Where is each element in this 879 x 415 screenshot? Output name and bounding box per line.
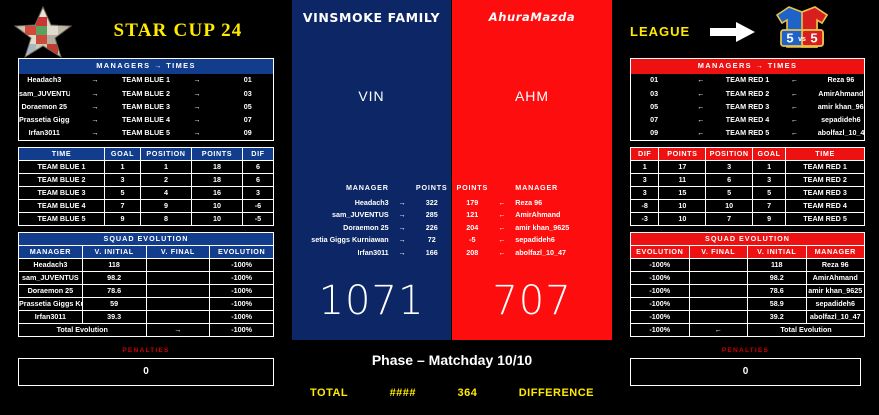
arrow-icon: ← bbox=[493, 247, 512, 260]
table-row: 03 ← TEAM RED 2 ← AmirAhmand bbox=[631, 87, 865, 100]
cell-v-final bbox=[146, 310, 210, 323]
team-name: TEAM RED 5 bbox=[724, 127, 771, 141]
right-penalties-value: 0 bbox=[743, 366, 749, 377]
logo-right-number: 5 bbox=[810, 31, 817, 46]
points-value: -5 bbox=[452, 234, 493, 247]
cell-time: TEAM BLUE 4 bbox=[19, 199, 105, 212]
table-row: 3 15 5 5 TEAM RED 3 bbox=[631, 186, 865, 199]
cell-goal: 7 bbox=[105, 199, 141, 212]
away-team-name: AhuraMazda bbox=[452, 10, 612, 24]
cell-time: TEAM RED 2 bbox=[786, 173, 865, 186]
left-squad-table-wrap: SQUAD EVOLUTION MANAGER V. INITIAL V. FI… bbox=[18, 232, 274, 337]
cell-evolution: -100% bbox=[631, 310, 690, 323]
cell-evolution: -100% bbox=[210, 271, 274, 284]
arrow-icon: ← bbox=[771, 127, 818, 141]
home-manager-points: MANAGER POINTS Headach3 → 322 sam_JUVENT… bbox=[292, 182, 452, 260]
list-item: 121 ← AmirAhmand bbox=[452, 209, 612, 222]
difference-label: DIFFERENCE bbox=[519, 387, 594, 399]
cell-evolution: -100% bbox=[210, 297, 274, 310]
away-total-score: 707 bbox=[452, 262, 612, 340]
manager-name: setia Giggs Kurniawan bbox=[292, 234, 393, 247]
cell-goal: 9 bbox=[105, 212, 141, 225]
table-row: Prassetia Giggs Kurniawan → TEAM BLUE 4 … bbox=[19, 113, 274, 126]
total-evolution-value: -100% bbox=[210, 323, 274, 336]
table-row: -100% 98.2 AmirAhmand bbox=[631, 271, 865, 284]
cell-v-initial: 59 bbox=[82, 297, 146, 310]
right-squad-bar-label: SQUAD EVOLUTION bbox=[631, 232, 865, 245]
away-team-abbr: AHM bbox=[452, 88, 612, 104]
manager-name: Reza 96 bbox=[818, 74, 865, 87]
cell-position: 3 bbox=[706, 160, 753, 173]
left-stats-table: TIME GOAL POSITION POINTS DIF TEAM BLUE … bbox=[18, 147, 274, 226]
table-row: -8 10 10 7 TEAM RED 4 bbox=[631, 199, 865, 212]
left-cup-title: STAR CUP 24 bbox=[78, 20, 278, 42]
col-header-position: POSITION bbox=[706, 147, 753, 160]
col-header-v-final: V. FINAL bbox=[689, 245, 748, 258]
right-team-panel: LEAGUE 5 vs 5 MANAGERS → TIMES bbox=[612, 0, 879, 415]
arrow-icon: ← bbox=[493, 234, 512, 247]
arrow-icon: → bbox=[172, 87, 223, 100]
points-value: 322 bbox=[411, 196, 452, 209]
col-header-dif: DIF bbox=[242, 147, 273, 160]
arrow-icon: ← bbox=[493, 209, 512, 222]
cell-v-final bbox=[689, 258, 748, 271]
team-number: 07 bbox=[631, 113, 678, 126]
cell-v-initial: 58.9 bbox=[748, 297, 807, 310]
cell-evolution: -100% bbox=[631, 258, 690, 271]
cell-time: TEAM RED 4 bbox=[786, 199, 865, 212]
team-name: TEAM RED 1 bbox=[724, 74, 771, 87]
totals-row: TOTAL #### 364 DIFFERENCE bbox=[292, 387, 612, 399]
team-number: 01 bbox=[223, 74, 274, 87]
points-value: 121 bbox=[452, 209, 493, 222]
team-number: 05 bbox=[223, 100, 274, 113]
cell-time: TEAM BLUE 1 bbox=[19, 160, 105, 173]
col-header-dif: DIF bbox=[631, 147, 659, 160]
cell-time: TEAM BLUE 3 bbox=[19, 186, 105, 199]
arrow-icon: ← bbox=[677, 113, 724, 126]
cell-v-initial: 78.6 bbox=[82, 284, 146, 297]
table-row: 1 17 3 1 TEAM RED 1 bbox=[631, 160, 865, 173]
center-manager-points-grid: MANAGER POINTS Headach3 → 322 sam_JUVENT… bbox=[292, 182, 612, 260]
cell-evolution: -100% bbox=[210, 284, 274, 297]
cell-position: 5 bbox=[706, 186, 753, 199]
col-header-manager: MANAGER bbox=[292, 182, 393, 196]
cell-v-initial: 78.6 bbox=[748, 284, 807, 297]
home-team-name: VINSMOKE FAMILY bbox=[292, 10, 451, 25]
arrow-icon: → bbox=[393, 247, 412, 260]
arrow-icon: → bbox=[70, 127, 121, 141]
arrow-icon: ← bbox=[677, 127, 724, 141]
cell-position: 1 bbox=[140, 160, 191, 173]
cell-dif: 3 bbox=[631, 186, 659, 199]
team-number: 03 bbox=[631, 87, 678, 100]
points-value: 179 bbox=[452, 196, 493, 209]
cell-position: 9 bbox=[140, 199, 191, 212]
home-points-table: MANAGER POINTS Headach3 → 322 sam_JUVENT… bbox=[292, 182, 452, 259]
cell-points: 10 bbox=[191, 199, 242, 212]
league-label: LEAGUE bbox=[630, 24, 690, 39]
cell-points: 10 bbox=[191, 212, 242, 225]
cell-position: 4 bbox=[140, 186, 191, 199]
team-number: 09 bbox=[223, 127, 274, 141]
cell-goal: 9 bbox=[753, 212, 786, 225]
team-name: TEAM RED 2 bbox=[724, 87, 771, 100]
manager-name: Doraemon 25 bbox=[292, 221, 393, 234]
list-item: sam_JUVENTUS → 285 bbox=[292, 209, 452, 222]
col-header-points: POINTS bbox=[411, 182, 452, 196]
cell-dif: -8 bbox=[631, 199, 659, 212]
cell-manager: abolfazl_10_47 bbox=[806, 310, 865, 323]
table-row: -100% 78.6 amir khan_9625 bbox=[631, 284, 865, 297]
cell-goal: 5 bbox=[753, 186, 786, 199]
left-squad-bar-label: SQUAD EVOLUTION bbox=[19, 232, 274, 245]
cell-v-final bbox=[146, 258, 210, 271]
logo-vs-text: vs bbox=[798, 36, 806, 43]
total-label: TOTAL bbox=[310, 387, 348, 399]
col-header-points: POINTS bbox=[191, 147, 242, 160]
left-squad-total-row: Total Evolution → -100% bbox=[19, 323, 274, 336]
table-row: Doraemon 25 → TEAM BLUE 3 → 05 bbox=[19, 100, 274, 113]
cell-points: 10 bbox=[659, 199, 706, 212]
col-header-position: POSITION bbox=[140, 147, 191, 160]
cell-points: 18 bbox=[191, 160, 242, 173]
right-squad-total-row: -100% ← Total Evolution bbox=[631, 323, 865, 336]
right-squad-bar: SQUAD EVOLUTION bbox=[631, 232, 865, 245]
right-managers-bar-label: MANAGERS → TIMES bbox=[631, 59, 865, 74]
right-managers-bar: MANAGERS → TIMES bbox=[631, 59, 865, 74]
right-stats-header-row: DIF POINTS POSITION GOAL TIME bbox=[631, 147, 865, 160]
cell-manager: amir khan_9625 bbox=[806, 284, 865, 297]
list-item: 208 ← abolfazl_10_47 bbox=[452, 247, 612, 260]
table-row: 07 ← TEAM RED 4 ← sepadideh6 bbox=[631, 113, 865, 126]
left-stats-table-wrap: TIME GOAL POSITION POINTS DIF TEAM BLUE … bbox=[18, 147, 274, 226]
col-header-v-initial: V. INITIAL bbox=[748, 245, 807, 258]
center-match-panel: VINSMOKE FAMILY VIN AhuraMazda AHM MANAG… bbox=[292, 0, 612, 415]
arrow-icon: → bbox=[393, 234, 412, 247]
cell-dif: 3 bbox=[242, 186, 273, 199]
cell-goal: 5 bbox=[105, 186, 141, 199]
cell-manager: Doraemon 25 bbox=[19, 284, 83, 297]
right-penalties-label: PENALTIES bbox=[612, 347, 879, 354]
total-v-final: ← bbox=[689, 323, 748, 336]
cell-time: TEAM RED 5 bbox=[786, 212, 865, 225]
manager-name: Reza 96 bbox=[511, 196, 612, 209]
col-header-v-final: V. FINAL bbox=[146, 245, 210, 258]
table-row: -100% 39.2 abolfazl_10_47 bbox=[631, 310, 865, 323]
cell-evolution: -100% bbox=[631, 284, 690, 297]
points-value: 226 bbox=[411, 221, 452, 234]
team-name: TEAM RED 3 bbox=[724, 100, 771, 113]
right-managers-table-wrap: MANAGERS → TIMES 01 ← TEAM RED 1 ← Reza … bbox=[630, 58, 865, 141]
team-name: TEAM BLUE 1 bbox=[121, 74, 172, 87]
table-row: sam_JUVENTUS 98.2 -100% bbox=[19, 271, 274, 284]
arrow-icon: ← bbox=[493, 221, 512, 234]
cell-v-final bbox=[146, 284, 210, 297]
team-name: TEAM BLUE 2 bbox=[121, 87, 172, 100]
arrow-icon: ← bbox=[677, 100, 724, 113]
right-header: LEAGUE 5 vs 5 bbox=[612, 0, 879, 58]
cell-goal: 3 bbox=[105, 173, 141, 186]
spacer-cell bbox=[393, 182, 412, 196]
table-row: 05 ← TEAM RED 3 ← amir khan_9625 bbox=[631, 100, 865, 113]
cell-dif: 3 bbox=[631, 173, 659, 186]
left-team-panel: STAR CUP 24 MANAGERS → TIMES Headach3 → … bbox=[0, 0, 292, 415]
col-header-goal: GOAL bbox=[105, 147, 141, 160]
phase-label: Phase – Matchday 10/10 bbox=[292, 352, 612, 368]
away-manager-points: POINTS MANAGER 179 ← Reza 96 121 ← AmirA… bbox=[452, 182, 612, 260]
list-item: 179 ← Reza 96 bbox=[452, 196, 612, 209]
left-penalties-value: 0 bbox=[143, 366, 149, 377]
cell-manager: sepadideh6 bbox=[806, 297, 865, 310]
logo-left-number: 5 bbox=[786, 31, 793, 46]
manager-name: Irfan3011 bbox=[19, 127, 70, 141]
cell-manager: AmirAhmand bbox=[806, 271, 865, 284]
cell-v-final bbox=[689, 310, 748, 323]
col-header-time: TIME bbox=[786, 147, 865, 160]
manager-name: Prassetia Giggs Kurniawan bbox=[19, 113, 70, 126]
total-evolution-value: -100% bbox=[631, 323, 690, 336]
team-number: 01 bbox=[631, 74, 678, 87]
cell-evolution: -100% bbox=[210, 258, 274, 271]
cell-v-final bbox=[689, 271, 748, 284]
col-header-manager: MANAGER bbox=[806, 245, 865, 258]
cell-position: 8 bbox=[140, 212, 191, 225]
cell-v-final bbox=[689, 297, 748, 310]
cell-points: 15 bbox=[659, 186, 706, 199]
arrow-icon: → bbox=[172, 113, 223, 126]
table-row: Irfan3011 39.3 -100% bbox=[19, 310, 274, 323]
table-row: -100% 118 Reza 96 bbox=[631, 258, 865, 271]
team-number: 07 bbox=[223, 113, 274, 126]
arrow-icon: → bbox=[172, 74, 223, 87]
arrow-icon: → bbox=[70, 87, 121, 100]
cell-goal: 7 bbox=[753, 199, 786, 212]
table-row: Headach3 → TEAM BLUE 1 → 01 bbox=[19, 74, 274, 87]
manager-name: Headach3 bbox=[19, 74, 70, 87]
table-row: TEAM BLUE 3 5 4 16 3 bbox=[19, 186, 274, 199]
left-managers-table-wrap: MANAGERS → TIMES Headach3 → TEAM BLUE 1 … bbox=[18, 58, 274, 141]
cell-v-final bbox=[146, 297, 210, 310]
arrow-icon: ← bbox=[677, 87, 724, 100]
left-header: STAR CUP 24 bbox=[0, 0, 292, 58]
arrow-icon: → bbox=[70, 100, 121, 113]
list-item: Doraemon 25 → 226 bbox=[292, 221, 452, 234]
team-number: 03 bbox=[223, 87, 274, 100]
col-header-v-initial: V. INITIAL bbox=[82, 245, 146, 258]
manager-name: abolfazl_10_47 bbox=[511, 247, 612, 260]
list-item: 204 ← amir khan_9625 bbox=[452, 221, 612, 234]
difference-value: 364 bbox=[457, 387, 477, 399]
spacer-cell bbox=[493, 182, 512, 196]
arrow-icon: → bbox=[393, 221, 412, 234]
table-row: TEAM BLUE 4 7 9 10 -6 bbox=[19, 199, 274, 212]
manager-name: sepadideh6 bbox=[818, 113, 865, 126]
cell-dif: 6 bbox=[242, 160, 273, 173]
table-row: TEAM BLUE 1 1 1 18 6 bbox=[19, 160, 274, 173]
star-flags-logo bbox=[12, 4, 74, 60]
left-penalties-label: PENALTIES bbox=[0, 347, 292, 354]
team-number: 05 bbox=[631, 100, 678, 113]
table-row: Prassetia Giggs Kurniawan 59 -100% bbox=[19, 297, 274, 310]
away-points-table: POINTS MANAGER 179 ← Reza 96 121 ← AmirA… bbox=[452, 182, 612, 259]
arrow-icon: ← bbox=[771, 74, 818, 87]
cell-goal: 1 bbox=[753, 160, 786, 173]
left-squad-header-row: MANAGER V. INITIAL V. FINAL EVOLUTION bbox=[19, 245, 274, 258]
table-row: TEAM BLUE 5 9 8 10 -5 bbox=[19, 212, 274, 225]
table-row: TEAM BLUE 2 3 2 18 6 bbox=[19, 173, 274, 186]
away-points-header-row: POINTS MANAGER bbox=[452, 182, 612, 196]
home-team-abbr: VIN bbox=[292, 88, 451, 104]
left-squad-bar: SQUAD EVOLUTION bbox=[19, 232, 274, 245]
home-total-score: 1071 bbox=[292, 262, 451, 340]
arrow-icon: ← bbox=[771, 100, 818, 113]
manager-name: Doraemon 25 bbox=[19, 100, 70, 113]
cell-points: 16 bbox=[191, 186, 242, 199]
cell-dif: -3 bbox=[631, 212, 659, 225]
cell-time: TEAM RED 3 bbox=[786, 186, 865, 199]
left-managers-table: MANAGERS → TIMES Headach3 → TEAM BLUE 1 … bbox=[18, 58, 274, 141]
cell-v-final bbox=[146, 271, 210, 284]
points-value: 285 bbox=[411, 209, 452, 222]
cell-position: 2 bbox=[140, 173, 191, 186]
cell-v-initial: 118 bbox=[82, 258, 146, 271]
arrow-icon: → bbox=[70, 74, 121, 87]
arrow-icon: → bbox=[393, 209, 412, 222]
right-arrow-icon bbox=[710, 22, 756, 42]
arrow-icon: → bbox=[172, 100, 223, 113]
5v5-jersey-logo: 5 vs 5 bbox=[767, 3, 837, 55]
cell-v-initial: 39.3 bbox=[82, 310, 146, 323]
cell-time: TEAM BLUE 2 bbox=[19, 173, 105, 186]
cell-evolution: -100% bbox=[631, 271, 690, 284]
manager-name: AmirAhmand bbox=[511, 209, 612, 222]
cell-points: 10 bbox=[659, 212, 706, 225]
col-header-goal: GOAL bbox=[753, 147, 786, 160]
table-row: sam_JUVENTUS → TEAM BLUE 2 → 03 bbox=[19, 87, 274, 100]
col-header-time: TIME bbox=[19, 147, 105, 160]
points-value: 72 bbox=[411, 234, 452, 247]
left-stats-header-row: TIME GOAL POSITION POINTS DIF bbox=[19, 147, 274, 160]
cell-goal: 1 bbox=[105, 160, 141, 173]
col-header-manager: MANAGER bbox=[19, 245, 83, 258]
arrow-icon: ← bbox=[771, 87, 818, 100]
cell-v-final bbox=[689, 284, 748, 297]
team-name: TEAM RED 4 bbox=[724, 113, 771, 126]
left-penalties-box: 0 bbox=[18, 358, 274, 386]
total-value: #### bbox=[390, 387, 416, 399]
manager-name: Irfan3011 bbox=[292, 247, 393, 260]
list-item: Headach3 → 322 bbox=[292, 196, 452, 209]
left-squad-table: SQUAD EVOLUTION MANAGER V. INITIAL V. FI… bbox=[18, 232, 274, 337]
scoreboard-root: STAR CUP 24 MANAGERS → TIMES Headach3 → … bbox=[0, 0, 879, 415]
cell-dif: 1 bbox=[631, 160, 659, 173]
cell-time: TEAM RED 1 bbox=[786, 160, 865, 173]
cell-manager: Reza 96 bbox=[806, 258, 865, 271]
manager-name: sam_JUVENTUS bbox=[292, 209, 393, 222]
cell-manager: sam_JUVENTUS bbox=[19, 271, 83, 284]
cell-goal: 3 bbox=[753, 173, 786, 186]
right-stats-table: DIF POINTS POSITION GOAL TIME 1 17 3 1 T… bbox=[630, 147, 865, 226]
team-number: 09 bbox=[631, 127, 678, 141]
arrow-icon: ← bbox=[771, 113, 818, 126]
team-name: TEAM BLUE 4 bbox=[121, 113, 172, 126]
cell-v-initial: 118 bbox=[748, 258, 807, 271]
manager-name: abolfazl_10_47 bbox=[818, 127, 865, 141]
cell-v-initial: 98.2 bbox=[748, 271, 807, 284]
points-value: 204 bbox=[452, 221, 493, 234]
cell-v-initial: 98.2 bbox=[82, 271, 146, 284]
table-row: 3 11 6 3 TEAM RED 2 bbox=[631, 173, 865, 186]
col-header-points: POINTS bbox=[659, 147, 706, 160]
list-item: setia Giggs Kurniawan → 72 bbox=[292, 234, 452, 247]
team-name: TEAM BLUE 5 bbox=[121, 127, 172, 141]
cell-position: 10 bbox=[706, 199, 753, 212]
left-managers-bar-label: MANAGERS → TIMES bbox=[19, 59, 274, 74]
table-row: 09 ← TEAM RED 5 ← abolfazl_10_47 bbox=[631, 127, 865, 141]
table-row: Doraemon 25 78.6 -100% bbox=[19, 284, 274, 297]
cell-points: 17 bbox=[659, 160, 706, 173]
arrow-icon: → bbox=[172, 127, 223, 141]
cell-evolution: -100% bbox=[631, 297, 690, 310]
table-row: Headach3 118 -100% bbox=[19, 258, 274, 271]
points-value: 166 bbox=[411, 247, 452, 260]
total-evolution-label: Total Evolution bbox=[748, 323, 865, 336]
left-managers-bar: MANAGERS → TIMES bbox=[19, 59, 274, 74]
right-squad-table: SQUAD EVOLUTION EVOLUTION V. FINAL V. IN… bbox=[630, 232, 865, 337]
cell-evolution: -100% bbox=[210, 310, 274, 323]
list-item: -5 ← sepadideh6 bbox=[452, 234, 612, 247]
cell-v-initial: 39.2 bbox=[748, 310, 807, 323]
cell-dif: 6 bbox=[242, 173, 273, 186]
right-managers-table: MANAGERS → TIMES 01 ← TEAM RED 1 ← Reza … bbox=[630, 58, 865, 141]
right-penalties-box: 0 bbox=[630, 358, 861, 386]
total-v-final: → bbox=[146, 323, 210, 336]
arrow-icon: ← bbox=[677, 74, 724, 87]
manager-name: sepadideh6 bbox=[511, 234, 612, 247]
col-header-points: POINTS bbox=[452, 182, 493, 196]
cell-manager: Irfan3011 bbox=[19, 310, 83, 323]
cell-points: 11 bbox=[659, 173, 706, 186]
table-row: -3 10 7 9 TEAM RED 5 bbox=[631, 212, 865, 225]
manager-name: amir khan_9625 bbox=[511, 221, 612, 234]
total-evolution-label: Total Evolution bbox=[19, 323, 147, 336]
manager-name: Headach3 bbox=[292, 196, 393, 209]
col-header-evolution: EVOLUTION bbox=[631, 245, 690, 258]
team-name: TEAM BLUE 3 bbox=[121, 100, 172, 113]
cell-time: TEAM BLUE 5 bbox=[19, 212, 105, 225]
table-row: -100% 58.9 sepadideh6 bbox=[631, 297, 865, 310]
cell-position: 7 bbox=[706, 212, 753, 225]
manager-name: amir khan_9625 bbox=[818, 100, 865, 113]
points-value: 208 bbox=[452, 247, 493, 260]
cell-manager: Headach3 bbox=[19, 258, 83, 271]
arrow-icon: → bbox=[70, 113, 121, 126]
col-header-manager: MANAGER bbox=[511, 182, 612, 196]
manager-name: AmirAhmand bbox=[818, 87, 865, 100]
manager-name: sam_JUVENTUS bbox=[19, 87, 70, 100]
arrow-icon: → bbox=[393, 196, 412, 209]
right-squad-header-row: EVOLUTION V. FINAL V. INITIAL MANAGER bbox=[631, 245, 865, 258]
right-stats-table-wrap: DIF POINTS POSITION GOAL TIME 1 17 3 1 T… bbox=[630, 147, 865, 226]
table-row: 01 ← TEAM RED 1 ← Reza 96 bbox=[631, 74, 865, 87]
cell-dif: -5 bbox=[242, 212, 273, 225]
arrow-icon: ← bbox=[493, 196, 512, 209]
right-squad-table-wrap: SQUAD EVOLUTION EVOLUTION V. FINAL V. IN… bbox=[630, 232, 865, 337]
cell-manager: Prassetia Giggs Kurniawan bbox=[19, 297, 83, 310]
cell-dif: -6 bbox=[242, 199, 273, 212]
col-header-evolution: EVOLUTION bbox=[210, 245, 274, 258]
